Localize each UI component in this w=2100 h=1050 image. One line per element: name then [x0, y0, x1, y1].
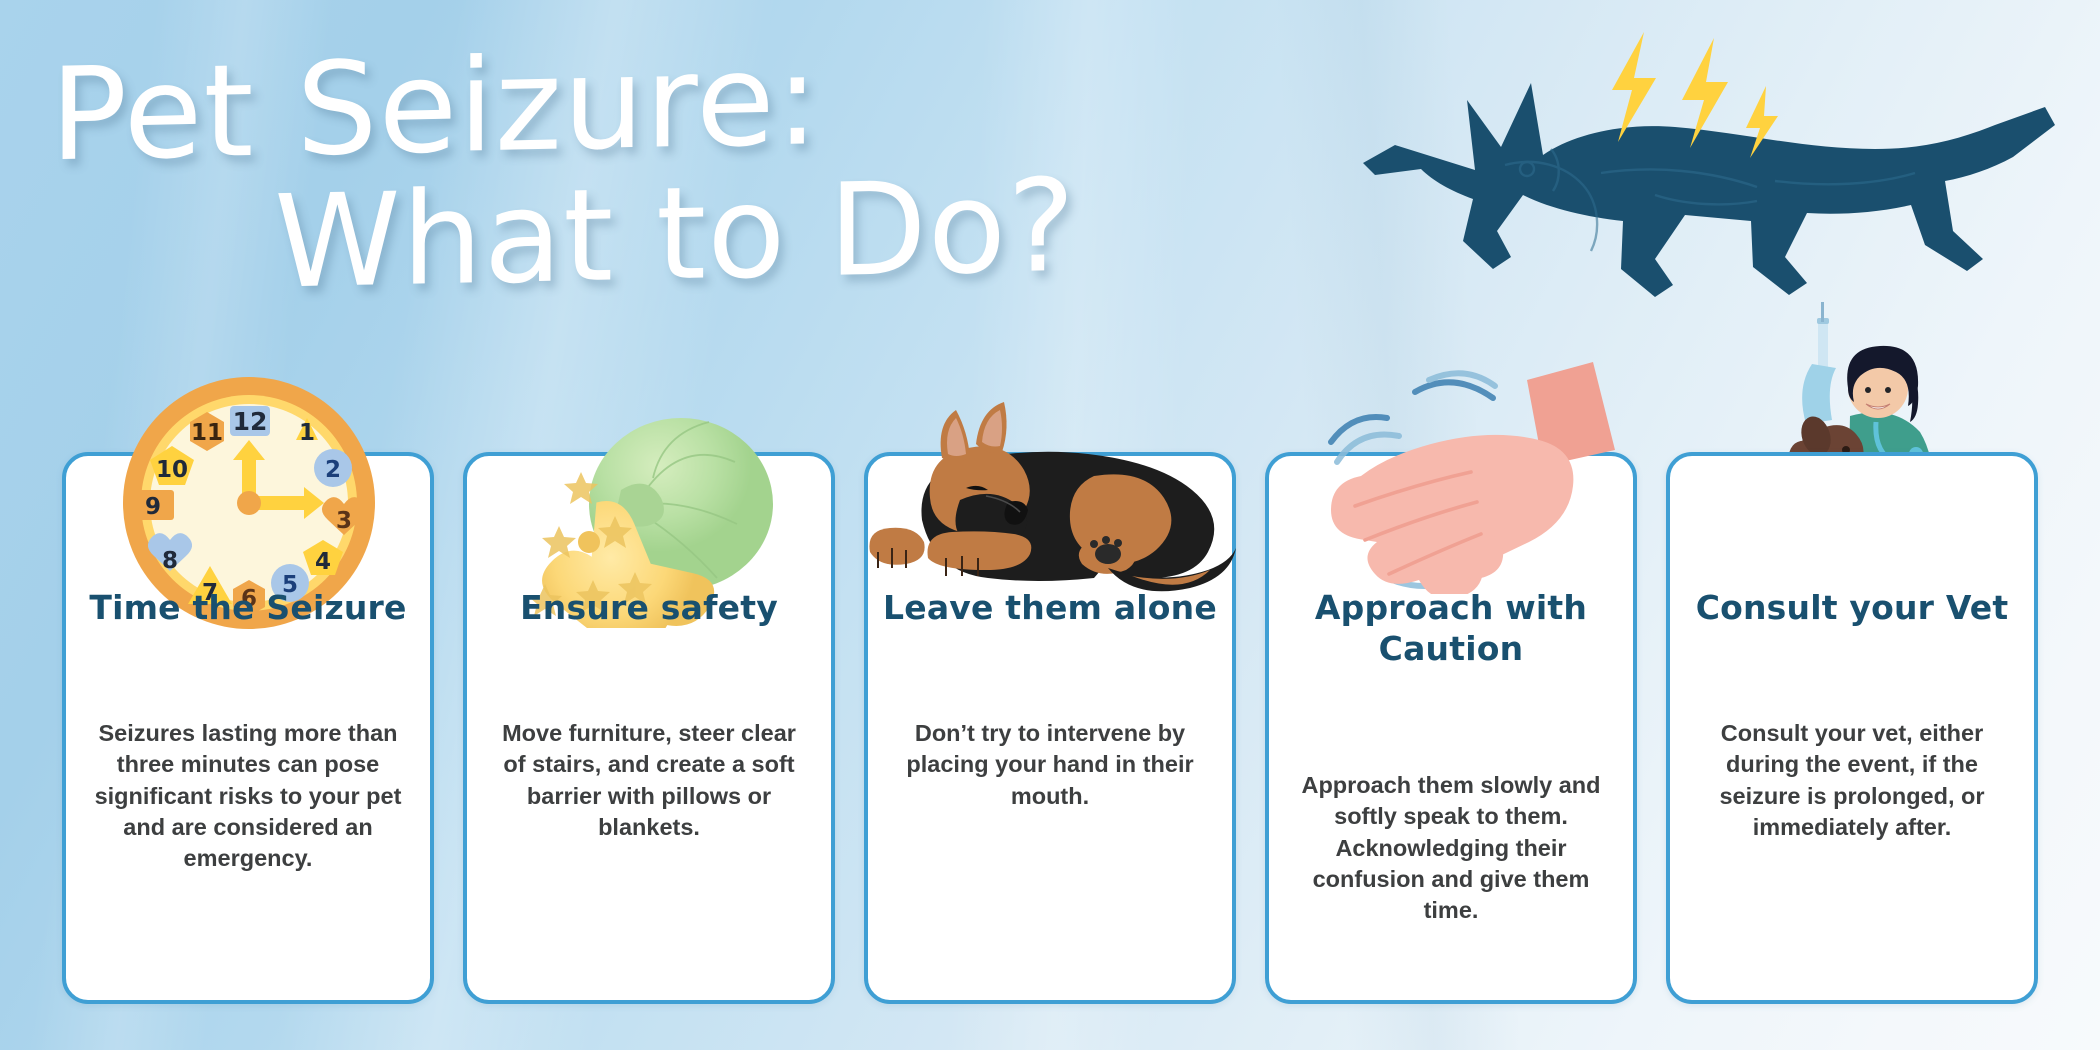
card-body-text: Don’t try to intervene by placing your h…: [864, 718, 1236, 812]
card-title: Approach with Caution: [1265, 588, 1637, 670]
card-body-text: Move furniture, steer clear of stairs, a…: [463, 718, 835, 843]
page-title: Pet Seizure: What to Do?: [44, 42, 1224, 298]
page-title-line-2: What to Do?: [44, 162, 1224, 311]
svg-text:11: 11: [191, 420, 223, 446]
card-body-text: Consult your vet, either during the even…: [1666, 718, 2038, 843]
card-body-text: Approach them slowly and softly speak to…: [1265, 770, 1637, 926]
card-title: Time the Seizure: [62, 588, 434, 629]
svg-text:1: 1: [299, 420, 315, 446]
card-title: Ensure safety: [463, 588, 835, 629]
card-title: Consult your Vet: [1666, 588, 2038, 629]
card-body-text: Seizures lasting more than three minutes…: [62, 718, 434, 874]
card-approach-with-caution[interactable]: Approach with Caution Approach them slow…: [1265, 0, 1637, 1050]
svg-text:12: 12: [233, 407, 268, 436]
card-title: Leave them alone: [864, 588, 1236, 629]
card-consult-your-vet[interactable]: Consult your Vet Consult your vet, eithe…: [1666, 0, 2038, 1050]
